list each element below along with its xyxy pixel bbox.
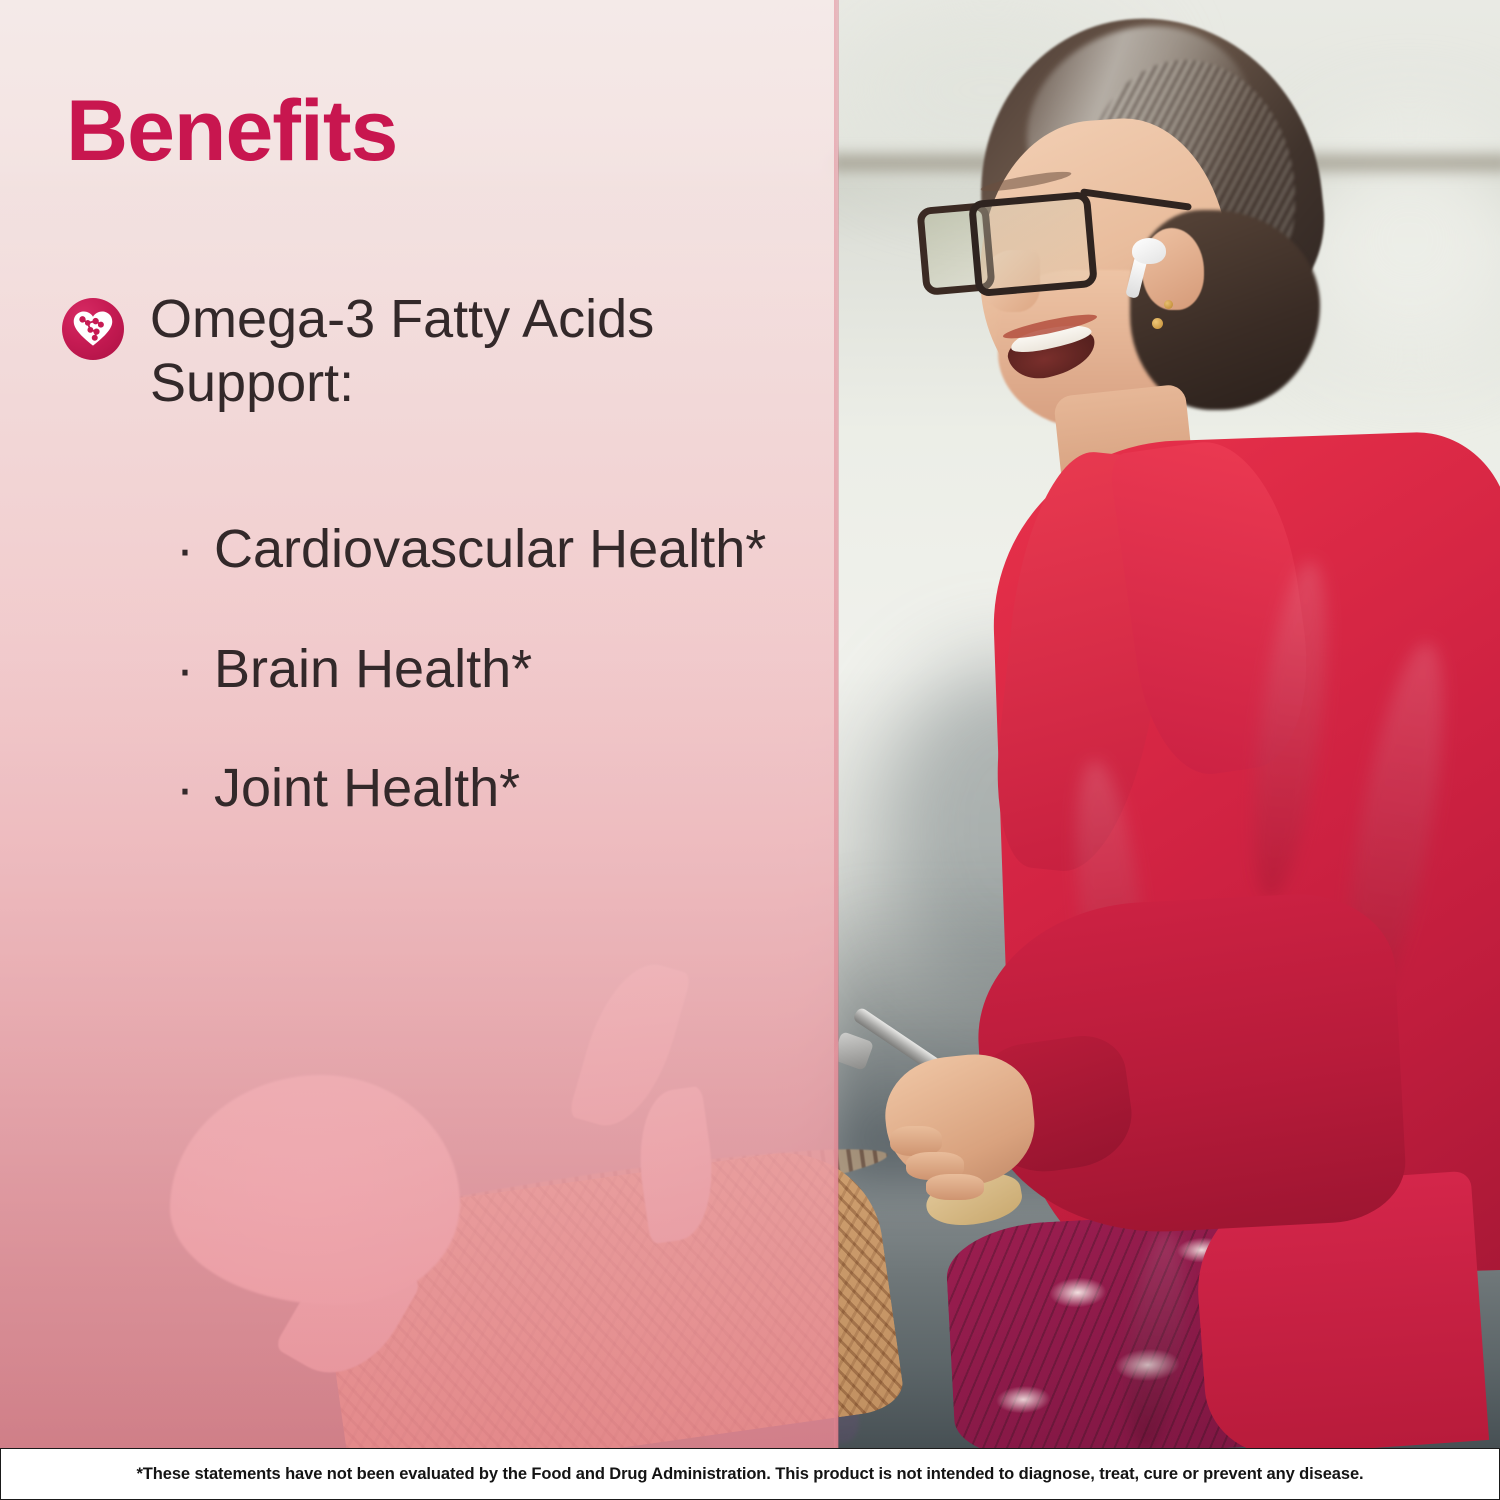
list-item: · Cardiovascular Health* xyxy=(176,518,816,582)
bullet-dot-icon: · xyxy=(176,757,190,821)
bullet-dot-icon: · xyxy=(176,638,190,702)
benefits-content: Benefits xyxy=(0,0,838,1448)
disclaimer-text: *These statements have not been evaluate… xyxy=(136,1465,1363,1484)
list-item-label: Cardiovascular Health* xyxy=(214,518,766,582)
list-item-label: Joint Health* xyxy=(214,757,520,821)
benefit-headline-row: Omega-3 Fatty Acids Support: xyxy=(62,288,762,415)
finger-3 xyxy=(926,1174,984,1200)
list-item-label: Brain Health* xyxy=(214,638,532,702)
benefits-list: · Cardiovascular Health* · Brain Health*… xyxy=(176,518,816,877)
page-title: Benefits xyxy=(66,88,397,174)
disclaimer-bar: *These statements have not been evaluate… xyxy=(0,1448,1500,1500)
woman-figure xyxy=(830,0,1500,1448)
list-item: · Joint Health* xyxy=(176,757,816,821)
product-benefits-banner: Benefits xyxy=(0,0,1500,1500)
heart-molecule-icon xyxy=(62,298,124,360)
list-item: · Brain Health* xyxy=(176,638,816,702)
earring-upper xyxy=(1164,300,1173,309)
eyeglasses-near-lens xyxy=(968,191,1098,297)
earring xyxy=(1152,318,1163,329)
wireless-earbud xyxy=(1132,238,1166,264)
bullet-dot-icon: · xyxy=(176,518,190,582)
benefit-title: Omega-3 Fatty Acids Support: xyxy=(150,288,710,415)
